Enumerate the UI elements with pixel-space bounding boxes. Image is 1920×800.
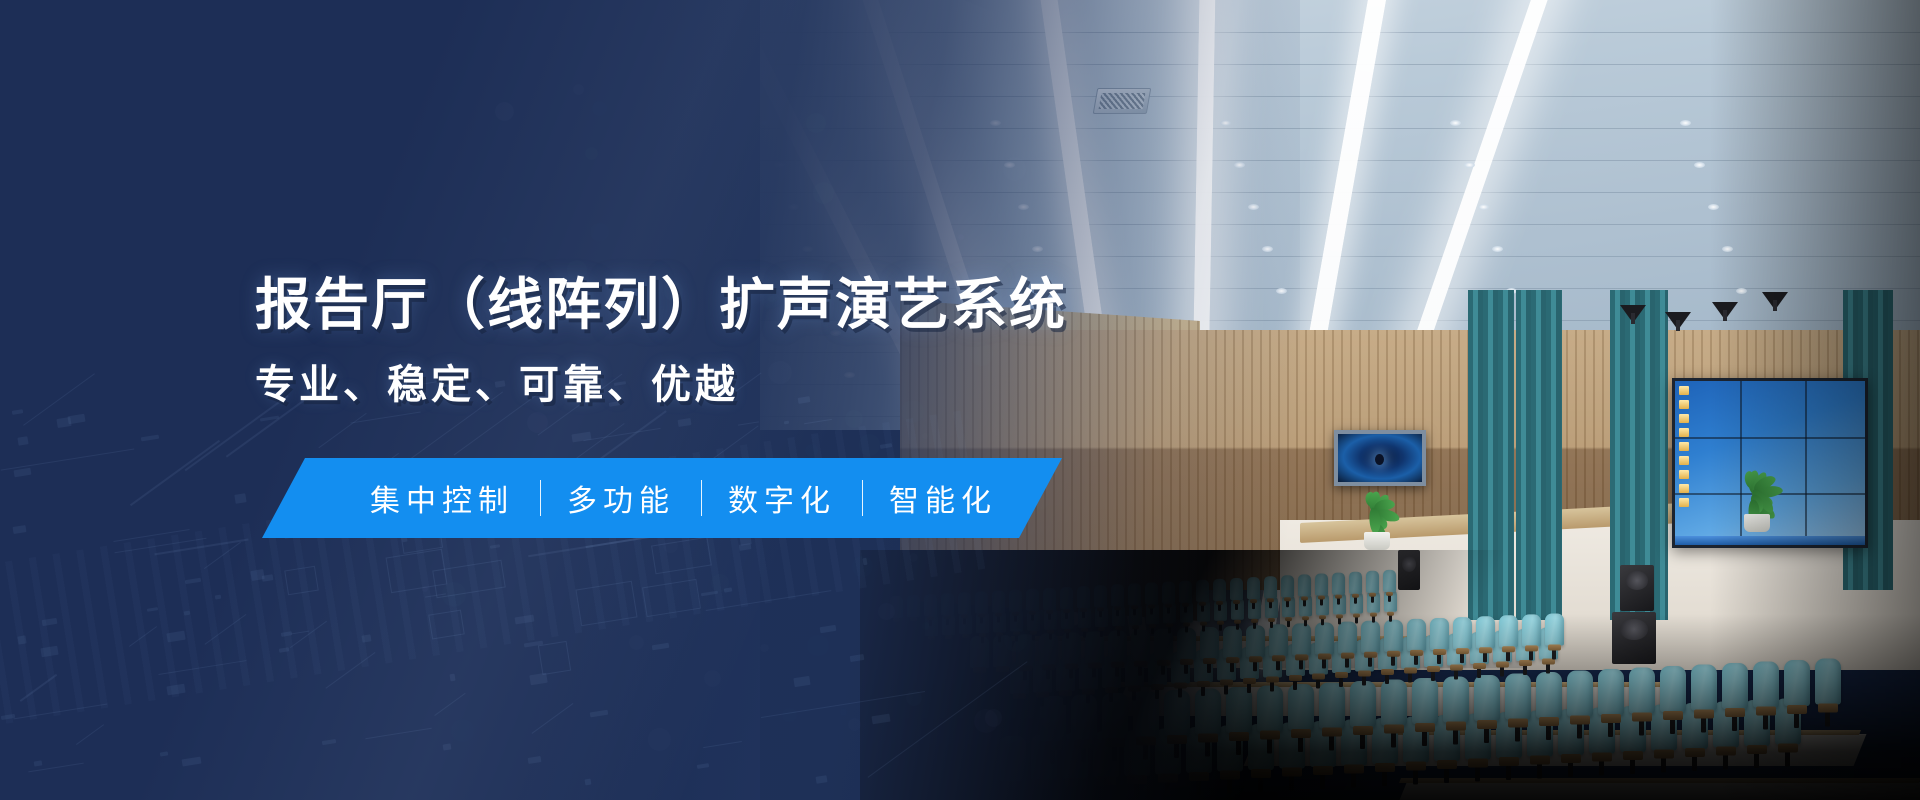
- banner-content: 报告厅（线阵列）扩声演艺系统 专业、稳定、可靠、优越 集中控制多功能数字化智能化: [0, 0, 1920, 800]
- feature-tag[interactable]: 多功能: [541, 476, 701, 520]
- banner-subtitle: 专业、稳定、可靠、优越: [255, 364, 739, 406]
- hero-banner: 报告厅（线阵列）扩声演艺系统 专业、稳定、可靠、优越 集中控制多功能数字化智能化: [0, 0, 1920, 800]
- feature-tag-list: 集中控制多功能数字化智能化: [262, 476, 1023, 520]
- feature-tag[interactable]: 数字化: [702, 476, 862, 520]
- feature-tag-bar: 集中控制多功能数字化智能化: [262, 458, 1062, 538]
- banner-title: 报告厅（线阵列）扩声演艺系统: [255, 276, 1067, 335]
- feature-tag[interactable]: 集中控制: [344, 476, 540, 520]
- feature-tag[interactable]: 智能化: [863, 476, 1023, 520]
